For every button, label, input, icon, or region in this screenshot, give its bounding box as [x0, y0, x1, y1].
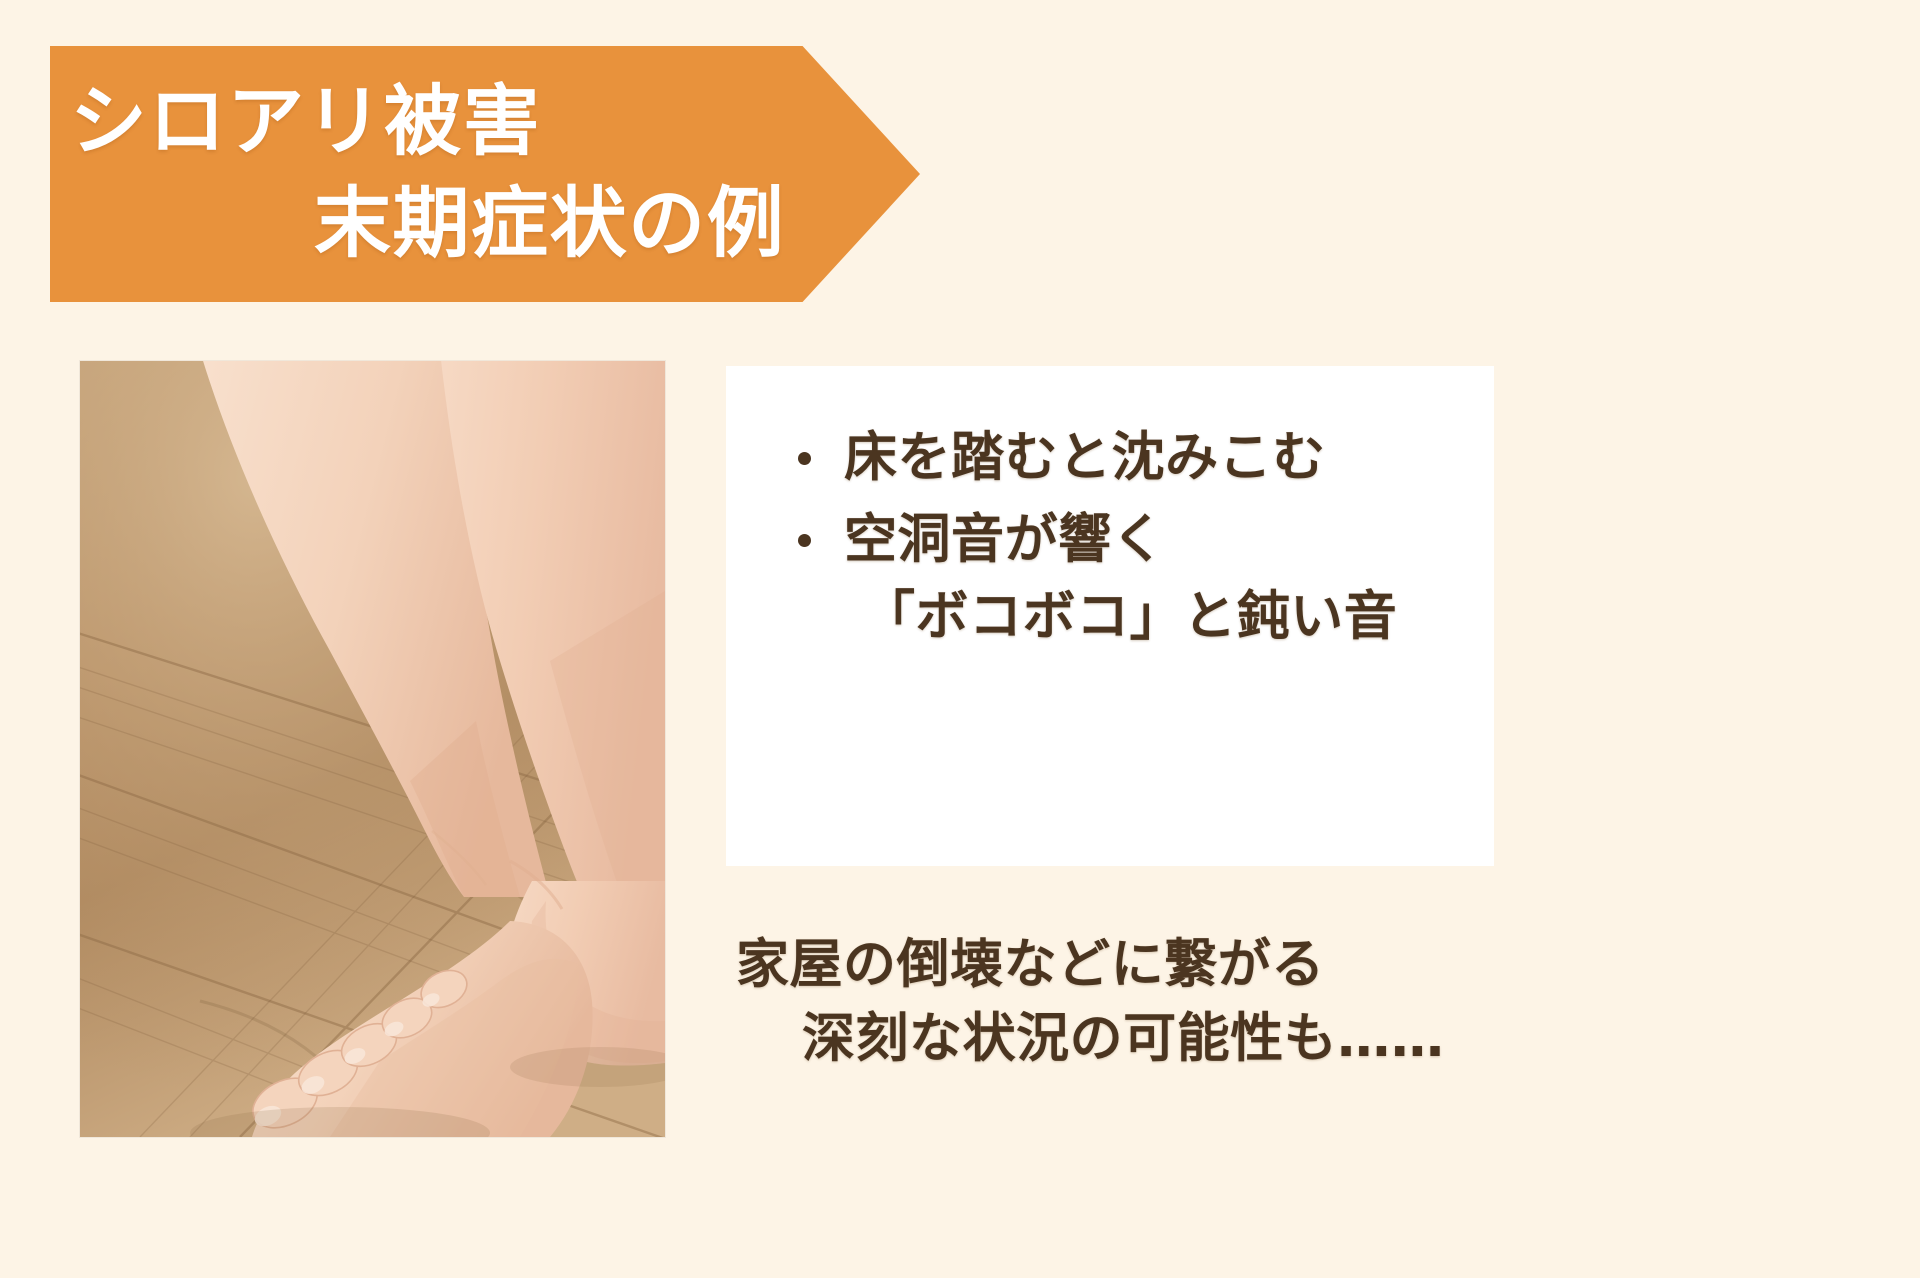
- slide-canvas: シロアリ被害 末期症状の例: [0, 0, 1920, 1278]
- list-item-label: 空洞音が響く: [844, 509, 1165, 570]
- symptom-card: 床を踏むと沈みこむ 空洞音が響く 「ボコボコ」と鈍い音: [726, 366, 1494, 866]
- title-line-1: シロアリ被害: [62, 72, 920, 174]
- caption-line-2: 深刻な状況の可能性も……: [726, 1002, 1736, 1076]
- symptom-list: 床を踏むと沈みこむ 空洞音が響く 「ボコボコ」と鈍い音: [782, 420, 1478, 661]
- list-item-sublabel: 「ボコボコ」と鈍い音: [844, 579, 1478, 655]
- title-banner: シロアリ被害 末期症状の例: [50, 46, 920, 302]
- photo-artwork: [80, 361, 665, 1137]
- bullet-icon: [798, 534, 811, 547]
- caption-line-1: 家屋の倒壊などに繋がる: [726, 928, 1736, 1002]
- list-item: 床を踏むと沈みこむ: [782, 420, 1478, 496]
- feet-on-wooden-floor-photo: [80, 361, 665, 1137]
- list-item-label: 床を踏むと沈みこむ: [844, 427, 1326, 488]
- title-line-2: 末期症状の例: [62, 174, 920, 276]
- list-item: 空洞音が響く 「ボコボコ」と鈍い音: [782, 502, 1478, 655]
- bullet-icon: [798, 452, 811, 465]
- warning-caption: 家屋の倒壊などに繋がる 深刻な状況の可能性も……: [726, 928, 1736, 1076]
- title-banner-text: シロアリ被害 末期症状の例: [50, 46, 920, 302]
